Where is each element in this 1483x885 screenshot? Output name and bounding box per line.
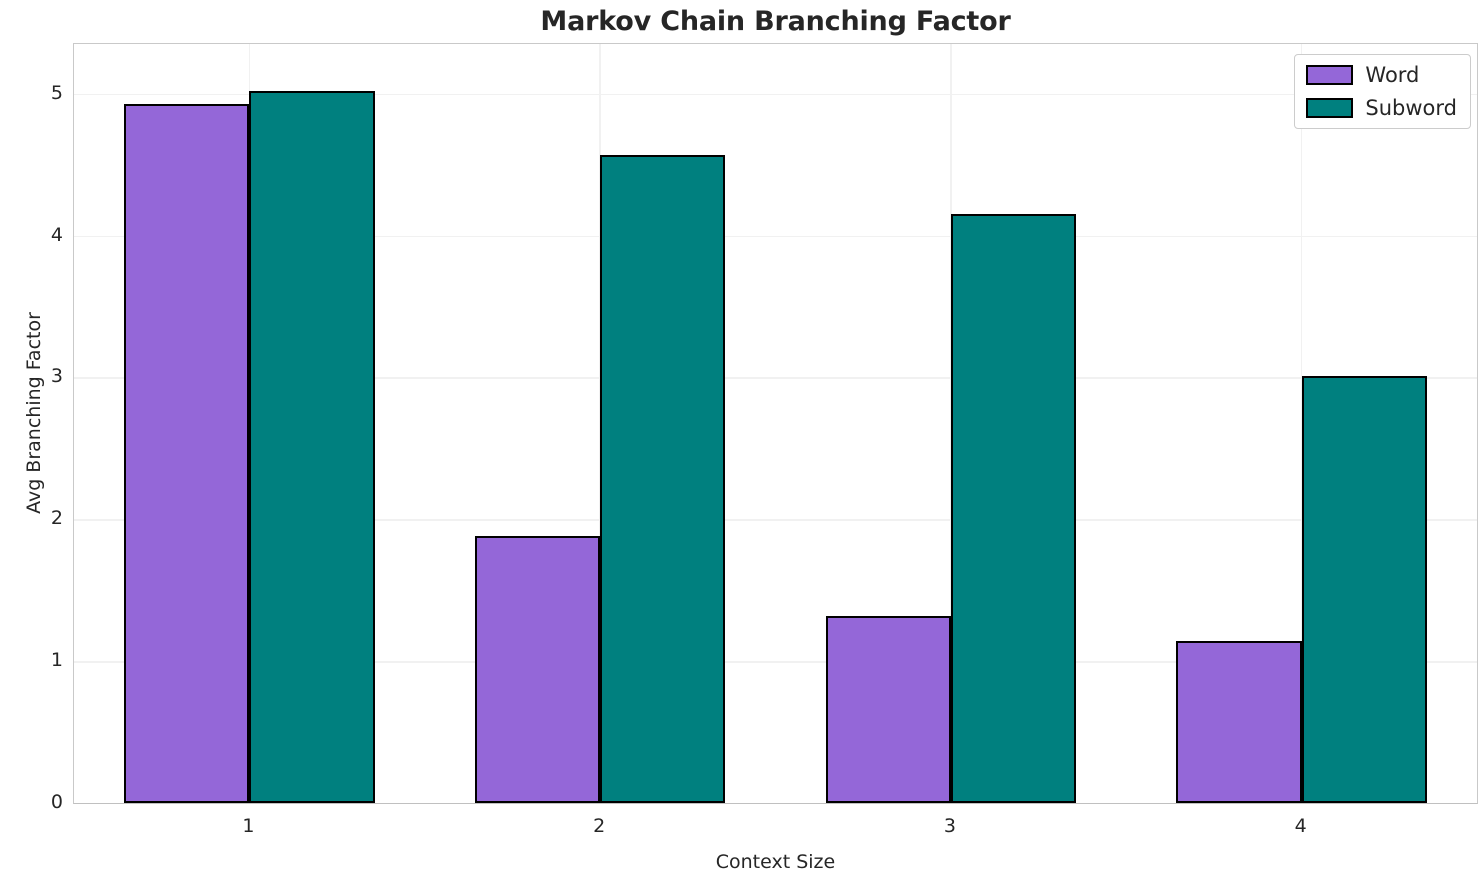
legend-label-word: Word bbox=[1365, 63, 1419, 87]
y-tick-label: 5 bbox=[3, 82, 63, 104]
y-tick-label: 0 bbox=[3, 791, 63, 813]
x-axis-tick-labels: 1234 bbox=[0, 815, 1483, 845]
legend-item-word[interactable]: Word bbox=[1306, 63, 1457, 87]
legend-item-subword[interactable]: Subword bbox=[1306, 96, 1457, 120]
bar-word-context-4[interactable] bbox=[1176, 641, 1301, 803]
plot-area bbox=[73, 43, 1478, 804]
bar-word-context-3[interactable] bbox=[826, 616, 951, 803]
x-tick-label: 3 bbox=[880, 815, 1020, 837]
bar-subword-context-3[interactable] bbox=[951, 214, 1076, 803]
y-tick-label: 1 bbox=[3, 649, 63, 671]
x-tick-label: 2 bbox=[529, 815, 669, 837]
x-tick-label: 1 bbox=[178, 815, 318, 837]
legend: Word Subword bbox=[1294, 54, 1471, 129]
bar-word-context-2[interactable] bbox=[475, 536, 600, 803]
chart-figure: Markov Chain Branching Factor 012345 123… bbox=[0, 0, 1483, 885]
bar-subword-context-2[interactable] bbox=[600, 155, 725, 803]
bar-subword-context-1[interactable] bbox=[249, 91, 374, 803]
legend-swatch-word bbox=[1306, 65, 1353, 85]
bar-word-context-1[interactable] bbox=[124, 104, 249, 803]
x-axis-label: Context Size bbox=[73, 851, 1478, 873]
legend-label-subword: Subword bbox=[1365, 96, 1457, 120]
y-axis-label: Avg Branching Factor bbox=[23, 203, 45, 623]
bar-subword-context-4[interactable] bbox=[1302, 376, 1427, 803]
chart-title: Markov Chain Branching Factor bbox=[73, 6, 1478, 37]
x-tick-label: 4 bbox=[1231, 815, 1371, 837]
legend-swatch-subword bbox=[1306, 98, 1353, 118]
